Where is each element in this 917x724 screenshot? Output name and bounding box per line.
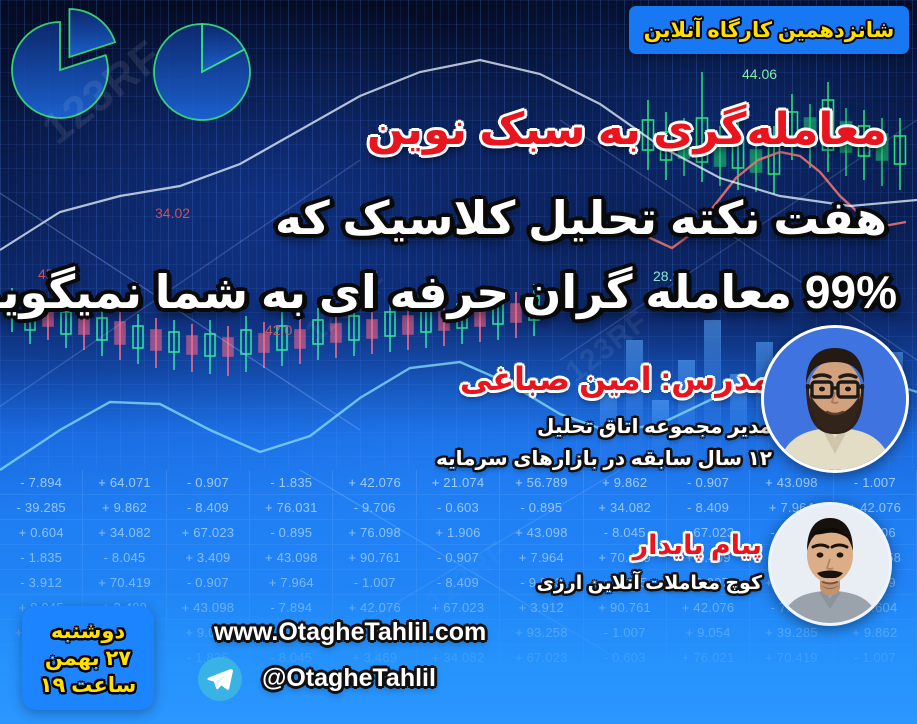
ticker-cell: + 76.031 [250,495,333,520]
ticker-cell: - 0.907 [167,470,250,495]
ticker-cell: - 1.007 [834,645,917,670]
ticker-cell: + 42.076 [667,595,750,620]
instructor-subtitle-1: مدیر مجموعه اتاق تحلیل [537,414,772,439]
ticker-cell: + 67.023 [417,595,500,620]
ticker-cell: - 0.895 [500,495,583,520]
ticker-cell: + 90.761 [584,595,667,620]
telegram-icon[interactable] [198,657,242,701]
telegram-glyph [206,665,234,693]
headline-white-line-1: هفت نکته تحلیل کلاسیک که [275,191,887,245]
ticker-cell: + 3.409 [167,545,250,570]
ticker-cell: + 21.074 [417,470,500,495]
workshop-banner: شانزدهمین کارگاه آنلاین [629,6,909,54]
ticker-cell: + 7.964 [500,545,583,570]
ticker-cell: + 7.964 [250,570,333,595]
ticker-cell: + 3.912 [500,595,583,620]
ticker-cell: - 0.603 [417,495,500,520]
ticker-cell: - 0.603 [584,645,667,670]
ticker-cell: + 67.023 [500,645,583,670]
ticker-cell: - 0.907 [417,545,500,570]
coach-portrait-graphic [771,505,889,623]
ticker-cell: + 34.082 [83,520,166,545]
ticker-cell: - 0.907 [167,570,250,595]
ticker-cell: + 76.021 [667,645,750,670]
ticker-cell: - 3.912 [0,570,83,595]
ticker-cell: + 0.604 [0,520,83,545]
ticker-cell: + 1.906 [417,520,500,545]
ticker-cell: + 9.862 [584,470,667,495]
website-url[interactable]: www.OtagheTahlil.com [214,618,486,647]
telegram-handle[interactable]: @OtagheTahlil [262,664,436,693]
ticker-cell: + 70.419 [83,570,166,595]
ticker-cell: + 43.098 [750,470,833,495]
ticker-cell: + 67.023 [167,520,250,545]
ticker-cell: - 8.409 [167,495,250,520]
ticker-cell: + 34.082 [584,495,667,520]
ticker-cell: + 56.789 [500,470,583,495]
ticker-cell: + 70.419 [750,645,833,670]
ticker-cell: - 8.045 [83,545,166,570]
instructor-portrait-graphic [764,328,906,470]
ticker-cell: - 0.895 [250,520,333,545]
date-badge-time: ساعت ۱۹ [40,673,137,698]
date-badge-date: ۲۷ بهمن [45,646,131,671]
ticker-cell: + 42.076 [333,470,416,495]
ticker-cell: - 8.409 [417,570,500,595]
ticker-cell: + 43.098 [500,520,583,545]
ticker-cell: + 93.258 [500,620,583,645]
ticker-cell: - 1.007 [584,620,667,645]
ticker-cell: + 43.098 [250,545,333,570]
ticker-cell: - 39.285 [0,495,83,520]
instructor-name: مدرس: امین صباغی [460,360,772,398]
ticker-cell: + 90.761 [333,545,416,570]
ticker-cell: - 1.835 [250,470,333,495]
workshop-banner-label: شانزدهمین کارگاه آنلاین [644,18,895,43]
ticker-cell: + 9.054 [667,620,750,645]
headline-white-line-2: 99% معامله گران حرفه ای به شما نمیگویند [0,265,897,319]
ticker-cell: + 42.076 [333,595,416,620]
date-badge-day: دوشنبه [51,619,125,644]
ticker-cell: - 7.894 [250,595,333,620]
ticker-cell: + 76.098 [333,520,416,545]
instructor-avatar [761,325,909,473]
instructor-subtitle-2: ۱۲ سال سابقه در بازارهای سرمایه [436,446,772,471]
coach-name: پیام پایدار [633,530,762,561]
ticker-cell: - 1.007 [834,470,917,495]
ticker-cell: + 64.071 [83,470,166,495]
ticker-cell: - 8.409 [667,495,750,520]
ticker-cell: + 43.098 [167,595,250,620]
ticker-cell: - 7.894 [0,470,83,495]
ticker-cell: - 9.706 [333,495,416,520]
ticker-cell: + 9.862 [83,495,166,520]
coach-subtitle: کوچ معاملات آنلاین ارزی [536,572,762,595]
ticker-cell: - 1.835 [0,545,83,570]
date-badge: دوشنبه ۲۷ بهمن ساعت ۱۹ [22,606,154,710]
ticker-cell: - 0.907 [667,470,750,495]
coach-avatar [768,502,892,626]
ticker-cell: - 1.007 [333,570,416,595]
poster-canvas: 44.0634.0245.9328.9642.0 123RF 123RF 123… [0,0,917,724]
headline-red: معامله‌گری به سبک نوین [367,104,887,155]
